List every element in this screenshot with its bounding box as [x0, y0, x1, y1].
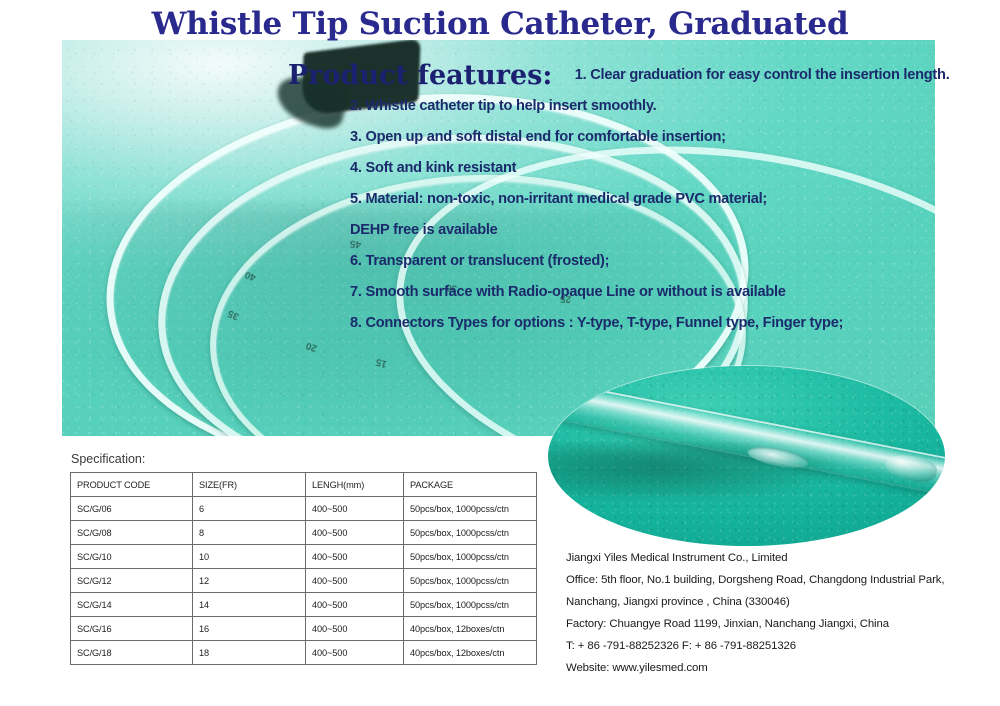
specification-label: Specification: — [71, 452, 145, 466]
cell-length: 400~500 — [306, 617, 404, 641]
feature-item-4: 4. Soft and kink resistant — [350, 160, 988, 176]
cell-length: 400~500 — [306, 497, 404, 521]
specification-table: PRODUCT CODE SIZE(FR) LENGH(mm) PACKAGE … — [70, 472, 537, 665]
cell-size: 12 — [193, 569, 306, 593]
cell-length: 400~500 — [306, 593, 404, 617]
table-row: SC/G/12 12 400~500 50pcs/box, 1000pcss/c… — [71, 569, 537, 593]
website: Website: www.yilesmed.com — [566, 657, 996, 679]
cell-product-code: SC/G/18 — [71, 641, 193, 665]
cell-package: 50pcs/box, 1000pcss/ctn — [404, 521, 537, 545]
cell-length: 400~500 — [306, 641, 404, 665]
whistle-tip-closeup-photo — [548, 366, 945, 546]
cell-size: 10 — [193, 545, 306, 569]
cell-package: 50pcs/box, 1000pcss/ctn — [404, 593, 537, 617]
feature-item-5: 5. Material: non-toxic, non-irritant med… — [350, 191, 988, 207]
cell-package: 50pcs/box, 1000pcss/ctn — [404, 497, 537, 521]
phone-fax: T: + 86 -791-88252326 F: + 86 -791-88251… — [566, 635, 996, 657]
cell-package: 50pcs/box, 1000pcss/ctn — [404, 545, 537, 569]
cell-product-code: SC/G/10 — [71, 545, 193, 569]
column-header-product-code: PRODUCT CODE — [71, 473, 193, 497]
company-name: Jiangxi Yiles Medical Instrument Co., Li… — [566, 547, 996, 569]
product-features-section: Product features: 1. Clear graduation fo… — [288, 60, 988, 346]
cell-size: 18 — [193, 641, 306, 665]
table-row: SC/G/06 6 400~500 50pcs/box, 1000pcss/ct… — [71, 497, 537, 521]
factory-address: Factory: Chuangye Road 1199, Jinxian, Na… — [566, 613, 996, 635]
feature-item-7: 7. Smooth surface with Radio-opaque Line… — [350, 284, 988, 300]
cell-package: 40pcs/box, 12boxes/ctn — [404, 617, 537, 641]
cell-package: 40pcs/box, 12boxes/ctn — [404, 641, 537, 665]
table-row: SC/G/14 14 400~500 50pcs/box, 1000pcss/c… — [71, 593, 537, 617]
product-features-list: 2. Whistle catheter tip to help insert s… — [350, 98, 988, 331]
page-title: Whistle Tip Suction Catheter, Graduated — [0, 6, 1000, 42]
contact-information: Jiangxi Yiles Medical Instrument Co., Li… — [566, 547, 996, 679]
cell-size: 6 — [193, 497, 306, 521]
cell-length: 400~500 — [306, 545, 404, 569]
cell-product-code: SC/G/16 — [71, 617, 193, 641]
cell-size: 14 — [193, 593, 306, 617]
office-address-line-2: Nanchang, Jiangxi province , China (3300… — [566, 591, 996, 613]
cell-length: 400~500 — [306, 521, 404, 545]
cell-package: 50pcs/box, 1000pcss/ctn — [404, 569, 537, 593]
cell-product-code: SC/G/14 — [71, 593, 193, 617]
column-header-package: PACKAGE — [404, 473, 537, 497]
feature-item-5-continued: DEHP free is available — [350, 222, 988, 238]
table-row: SC/G/08 8 400~500 50pcs/box, 1000pcss/ct… — [71, 521, 537, 545]
cell-product-code: SC/G/08 — [71, 521, 193, 545]
table-header-row: PRODUCT CODE SIZE(FR) LENGH(mm) PACKAGE — [71, 473, 537, 497]
cell-product-code: SC/G/12 — [71, 569, 193, 593]
feature-item-3: 3. Open up and soft distal end for comfo… — [350, 129, 988, 145]
feature-item-1: 1. Clear graduation for easy control the… — [575, 67, 950, 83]
product-features-heading: Product features: — [288, 60, 552, 91]
table-row: SC/G/16 16 400~500 40pcs/box, 12boxes/ct… — [71, 617, 537, 641]
cell-length: 400~500 — [306, 569, 404, 593]
feature-item-6: 6. Transparent or translucent (frosted); — [350, 253, 988, 269]
office-address-line-1: Office: 5th floor, No.1 building, Dorgsh… — [566, 569, 996, 591]
feature-item-8: 8. Connectors Types for options : Y-type… — [350, 315, 988, 331]
table-row: SC/G/18 18 400~500 40pcs/box, 12boxes/ct… — [71, 641, 537, 665]
cell-product-code: SC/G/06 — [71, 497, 193, 521]
table-row: SC/G/10 10 400~500 50pcs/box, 1000pcss/c… — [71, 545, 537, 569]
column-header-length: LENGH(mm) — [306, 473, 404, 497]
column-header-size: SIZE(FR) — [193, 473, 306, 497]
cell-size: 8 — [193, 521, 306, 545]
cell-size: 16 — [193, 617, 306, 641]
specification-table-wrapper: PRODUCT CODE SIZE(FR) LENGH(mm) PACKAGE … — [70, 472, 536, 665]
feature-item-2: 2. Whistle catheter tip to help insert s… — [350, 98, 988, 114]
